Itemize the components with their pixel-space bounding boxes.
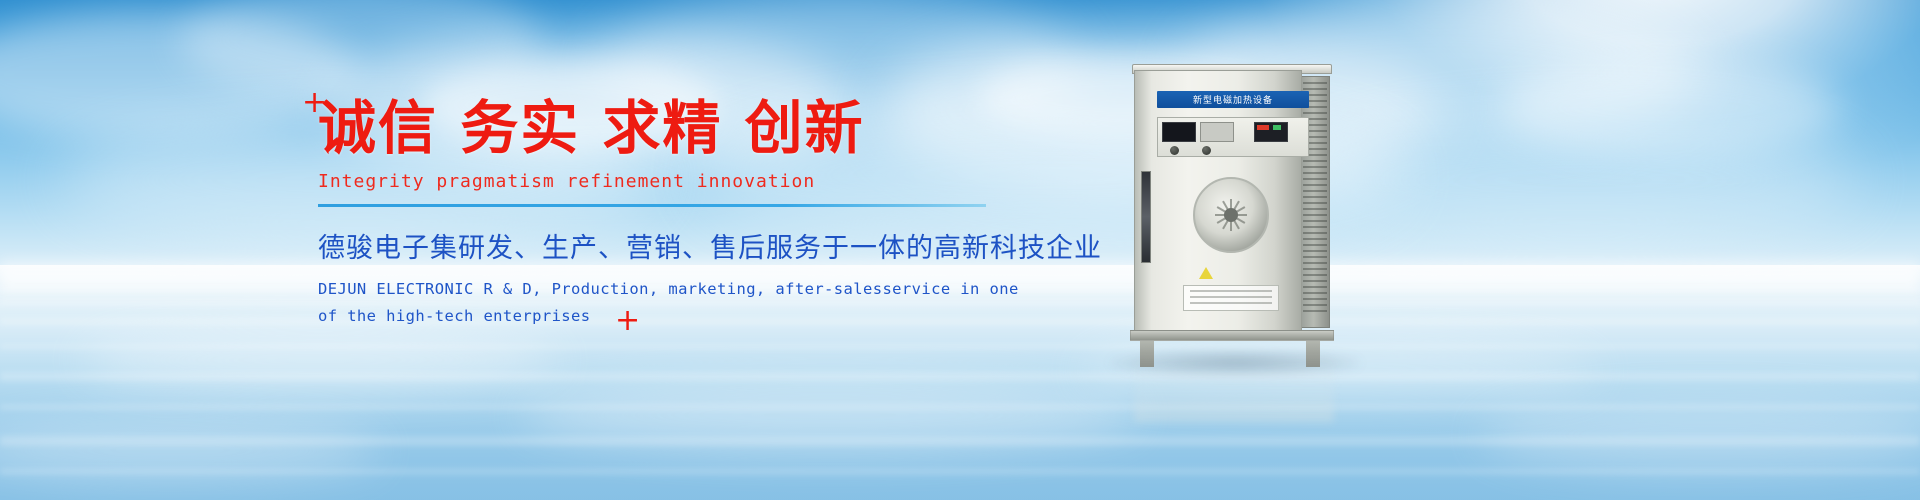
machine-indicator-green (1273, 125, 1281, 130)
banner-headline: 诚信 务实 求精 创新 (318, 96, 1078, 161)
machine-front-body: 新型电磁加热设备 (1134, 70, 1302, 332)
cloud-shape (1500, 60, 1840, 155)
machine-indicator-red (1257, 125, 1269, 130)
machine-knob-left (1170, 146, 1179, 155)
product-name-badge: 新型电磁加热设备 (1157, 91, 1309, 108)
machine-spec-plate (1183, 285, 1279, 311)
product-image-induction-heater: 新型电磁加热设备 (1120, 60, 1340, 355)
wave-line (0, 468, 1920, 475)
machine-cooling-fan (1193, 177, 1269, 253)
wave-line (0, 436, 1920, 446)
water-highlight (1480, 400, 1920, 470)
banner-subtitle-english: DEJUN ELECTRONIC R & D, Production, mark… (318, 276, 1078, 330)
banner-text-block: 诚信 务实 求精 创新 Integrity pragmatism refinem… (318, 96, 1078, 330)
warning-triangle-icon (1199, 267, 1213, 279)
wave-line (0, 372, 1920, 381)
banner-tagline-english: Integrity pragmatism refinement innovati… (318, 171, 1078, 192)
fan-blades (1201, 185, 1261, 245)
machine-side-strip (1141, 171, 1151, 263)
product-reflection (1134, 352, 1334, 422)
subtitle-english-line-2: of the high-tech enterprises (318, 303, 1078, 330)
machine-knob-right (1202, 146, 1211, 155)
subtitle-english-line-1: DEJUN ELECTRONIC R & D, Production, mark… (318, 276, 1078, 303)
machine-control-panel (1157, 117, 1309, 157)
water-highlight (80, 330, 560, 390)
machine-base (1130, 330, 1334, 341)
divider-rule (318, 204, 986, 207)
promo-banner: + + 诚信 务实 求精 创新 Integrity pragmatism ref… (0, 0, 1920, 500)
banner-subtitle-chinese: 德骏电子集研发、生产、营销、售后服务于一体的高新科技企业 (318, 226, 1078, 265)
machine-display-primary (1162, 122, 1196, 142)
machine-meter-gauge (1200, 122, 1234, 142)
wave-line (0, 344, 1920, 349)
wave-line (0, 404, 1920, 410)
